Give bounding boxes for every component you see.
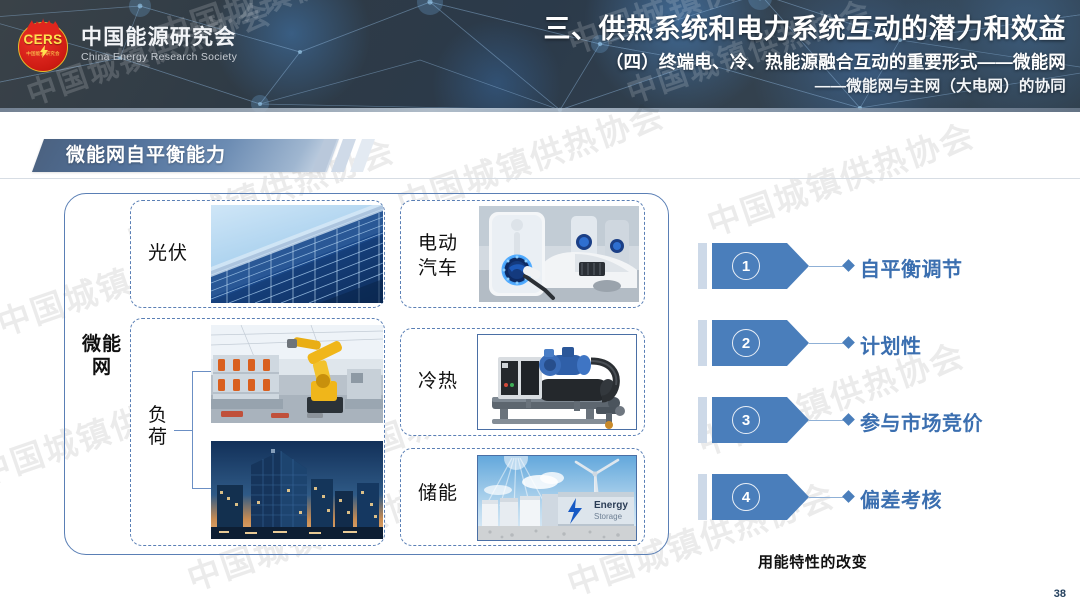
feature-bullet-diamond-icon	[842, 336, 855, 349]
chiller-image	[478, 335, 636, 429]
logo-wordmark: 中国能源研究会 China Energy Research Society	[81, 27, 237, 63]
feature-bullet-diamond-icon	[842, 413, 855, 426]
feature-connector-line	[809, 343, 845, 345]
slide-subtitle-2: ——微能网与主网（大电网）的协同	[406, 78, 1066, 96]
page-number: 38	[1054, 588, 1066, 600]
factory-robot-image	[211, 325, 383, 423]
ev-charging-photo	[479, 206, 639, 302]
cers-logo-icon: CERS 中国能源研究会	[18, 18, 72, 72]
energy-storage-photo: Energy Storage	[477, 455, 637, 541]
feature-label: 自平衡调节	[860, 253, 963, 282]
feature-number: 1	[732, 252, 760, 280]
office-buildings-image	[211, 441, 383, 539]
feature-tab	[698, 474, 707, 520]
ev-charging-image	[479, 206, 639, 302]
feature-bullet-diamond-icon	[842, 259, 855, 272]
feature-number: 4	[732, 483, 760, 511]
feature-connector-line	[809, 497, 845, 499]
feature-tab	[698, 320, 707, 366]
energy-storage-image: Energy Storage	[478, 456, 636, 540]
card-ev-label: 电动汽车	[418, 232, 466, 281]
logo-org-cn: 中国能源研究会	[81, 27, 237, 49]
feature-number: 3	[732, 406, 760, 434]
slide-root: 中国城镇供热协会 中国城镇供热协会 中国城镇供热协会 中国城镇供热协会 CERS…	[0, 0, 1080, 608]
logo-mark-subtext: 中国能源研究会	[18, 51, 68, 57]
storage-photo-text-line1: Energy	[594, 500, 628, 511]
slide-title: 三、供热系统和电力系统互动的潜力和效益	[406, 16, 1066, 43]
card-cooling-heating-label: 冷热	[418, 371, 458, 393]
card-storage-label: 储能	[418, 483, 458, 505]
slide-header: 中国城镇供热协会 中国城镇供热协会 中国城镇供热协会 中国城镇供热协会 CERS…	[0, 0, 1080, 112]
card-load-label: 负荷	[148, 405, 172, 450]
feature-arrow	[787, 243, 809, 289]
office-buildings-photo	[211, 441, 383, 539]
feature-bullet-diamond-icon	[842, 490, 855, 503]
feature-connector-line	[809, 420, 845, 422]
feature-number: 2	[732, 329, 760, 357]
feature-arrow	[787, 397, 809, 443]
features-caption: 用能特性的改变	[758, 551, 867, 572]
feature-tab	[698, 243, 707, 289]
feature-label: 计划性	[860, 330, 922, 359]
logo-org-en: China Energy Research Society	[81, 51, 237, 63]
logo: CERS 中国能源研究会 中国能源研究会 China Energy Resear…	[18, 18, 237, 72]
feature-arrow	[787, 474, 809, 520]
feature-tab	[698, 397, 707, 443]
chiller-photo	[477, 334, 637, 430]
solar-panel-photo	[211, 205, 383, 303]
feature-connector-line	[809, 266, 845, 268]
bracket-arm	[192, 488, 212, 489]
card-solar-label: 光伏	[148, 243, 188, 265]
bracket-spine	[192, 371, 193, 489]
factory-robot-photo	[211, 325, 383, 423]
feature-label: 偏差考核	[860, 484, 942, 513]
feature-label: 参与市场竞价	[860, 407, 983, 436]
slide-subtitle-1: （四）终端电、冷、热能源融合互动的重要形式——微能网	[406, 52, 1066, 72]
banner-rule	[0, 178, 1080, 179]
bracket-stem	[174, 430, 192, 431]
bracket-arm	[192, 371, 212, 372]
micro-energy-network-label: 微能网	[78, 333, 126, 379]
header-divider	[0, 108, 1080, 112]
solar-panel-image	[211, 205, 383, 303]
section-banner-label: 微能网自平衡能力	[66, 139, 226, 172]
feature-arrow	[787, 320, 809, 366]
storage-photo-text-line2: Storage	[594, 512, 623, 521]
